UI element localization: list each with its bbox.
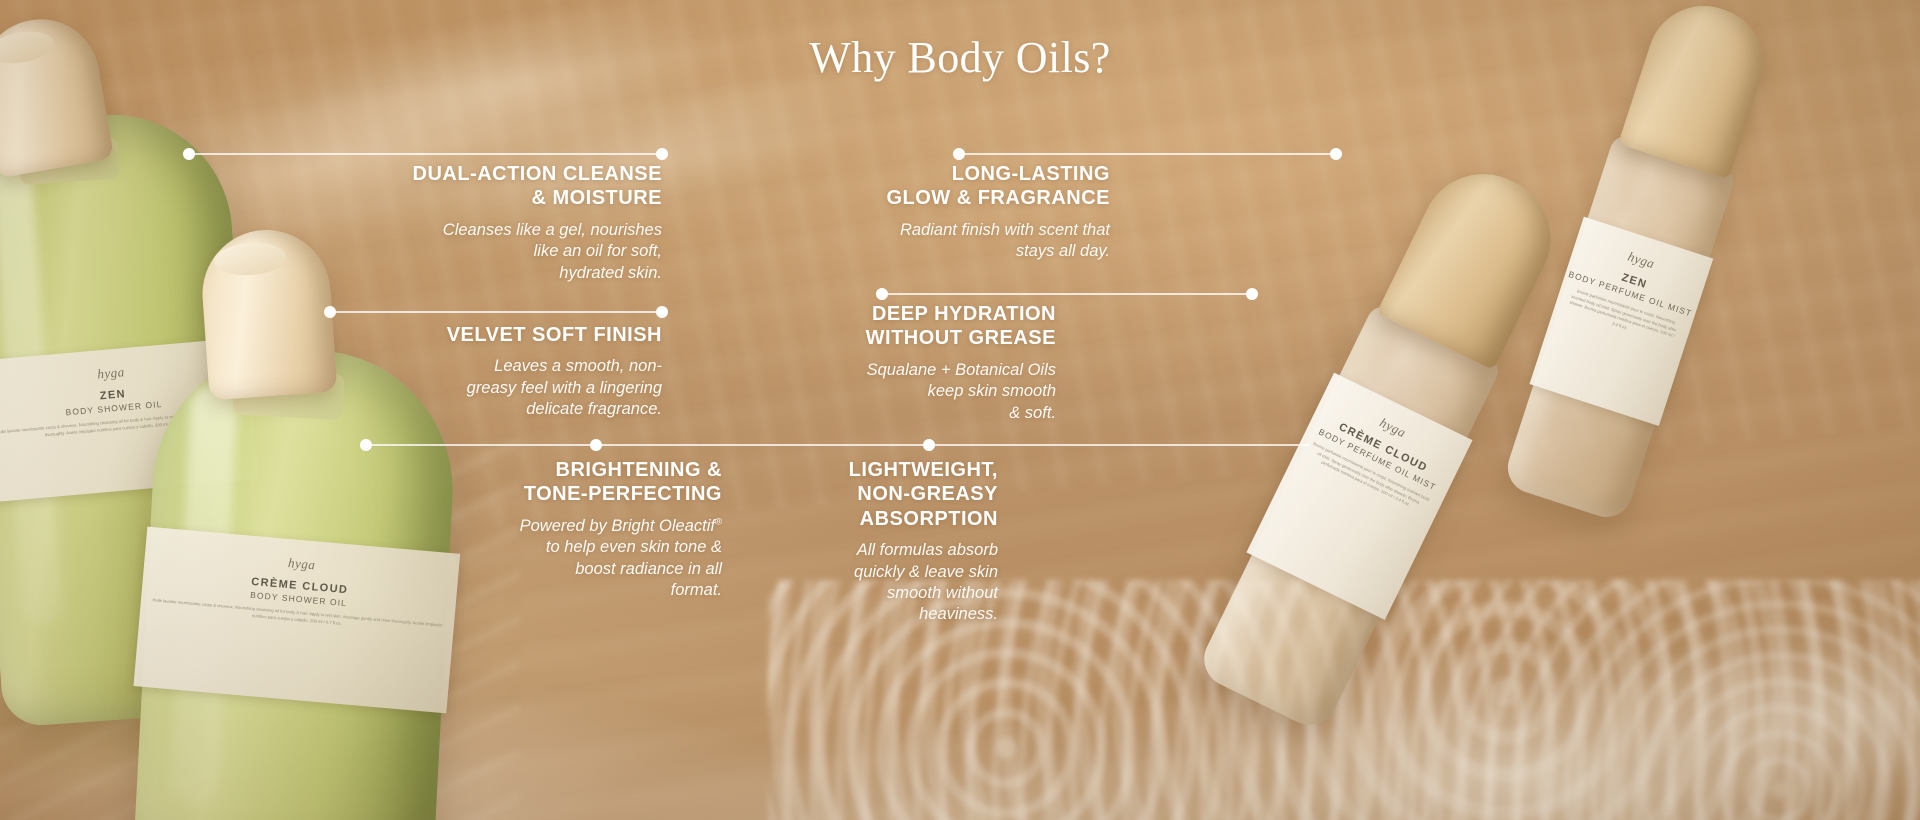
feature-heading: LIGHTWEIGHT, NON-GREASY ABSORPTION <box>800 458 998 531</box>
feature-body: Cleanses like a gel, nourishes like an o… <box>362 220 662 284</box>
feature-heading: VELVET SOFT FINISH <box>392 323 662 347</box>
feature-heading: DEEP HYDRATION WITHOUT GREASE <box>800 302 1056 351</box>
feature-body: Powered by Bright Oleactif® to help even… <box>440 516 722 602</box>
feature-body-prefix: Powered by Bright Oleactif <box>520 517 715 535</box>
feature-brightening-tone-perfecting: BRIGHTENING & TONE-PERFECTING Powered by… <box>440 458 722 602</box>
feature-body: Leaves a smooth, non- greasy feel with a… <box>392 356 662 420</box>
feature-dual-action-cleanse: DUAL-ACTION CLEANSE & MOISTURE Cleanses … <box>362 162 662 284</box>
feature-body: Squalane + Botanical Oils keep skin smoo… <box>800 360 1056 424</box>
feature-heading: LONG-LASTING GLOW & FRAGRANCE <box>830 162 1110 211</box>
feature-heading: BRIGHTENING & TONE-PERFECTING <box>440 458 722 507</box>
feature-body: All formulas absorb quickly & leave skin… <box>800 540 998 626</box>
feature-heading: DUAL-ACTION CLEANSE & MOISTURE <box>362 162 662 211</box>
feature-long-lasting-glow: LONG-LASTING GLOW & FRAGRANCE Radiant fi… <box>830 162 1110 263</box>
page-title: Why Body Oils? <box>0 32 1920 83</box>
registered-trademark-symbol: ® <box>715 516 722 527</box>
feature-lightweight-absorption: LIGHTWEIGHT, NON-GREASY ABSORPTION All f… <box>800 458 998 626</box>
feature-deep-hydration: DEEP HYDRATION WITHOUT GREASE Squalane +… <box>800 302 1056 424</box>
why-body-oils-banner: hyga ZEN BODY SHOWER OIL Huile lavante n… <box>0 0 1920 820</box>
feature-body: Radiant finish with scent that stays all… <box>830 220 1110 263</box>
feature-velvet-soft-finish: VELVET SOFT FINISH Leaves a smooth, non-… <box>392 323 662 421</box>
feature-body-suffix: to help even skin tone & boost radiance … <box>546 538 722 599</box>
